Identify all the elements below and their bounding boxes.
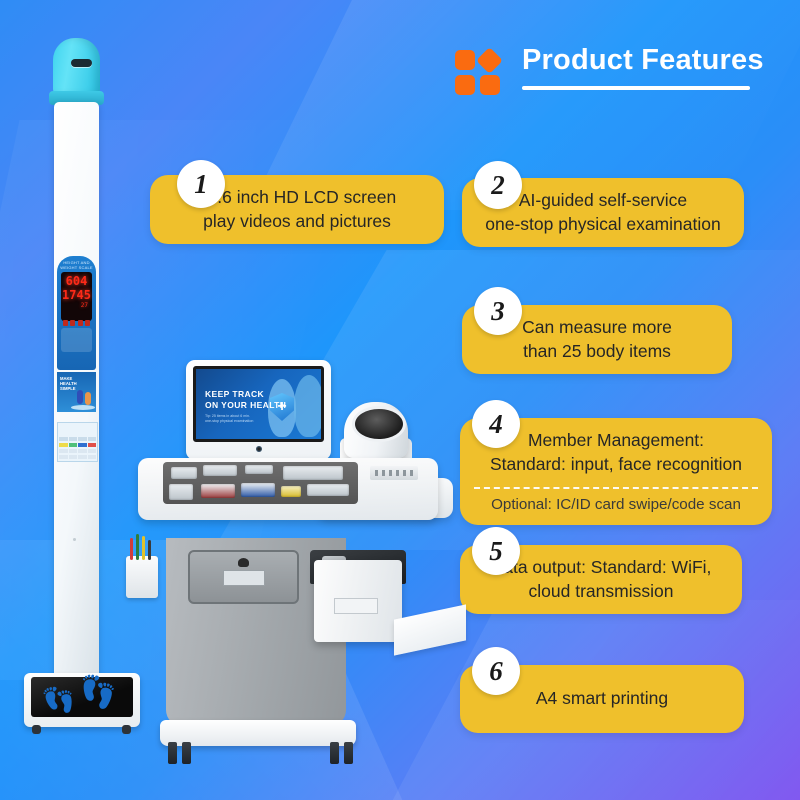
feature-number-badge: 4 — [472, 400, 520, 448]
tray-slot[interactable] — [281, 486, 301, 497]
feature-item-5: Data output: Standard: WiFi, cloud trans… — [460, 545, 742, 614]
feature-number: 4 — [489, 411, 503, 438]
header: Product Features — [455, 44, 775, 116]
ad-ground — [71, 405, 95, 410]
tray-slot[interactable] — [307, 484, 349, 496]
title-underline — [522, 86, 750, 90]
feature-number-badge: 5 — [472, 527, 520, 575]
feature-subtext: Optional: IC/ID card swipe/code scan — [460, 489, 772, 525]
printer-output-tray — [394, 604, 466, 655]
runner-figure — [77, 390, 83, 404]
scale-leg — [32, 725, 41, 734]
four-squares-icon — [455, 50, 503, 98]
column-indicator-dot — [73, 538, 76, 541]
health-kiosk-unit: KEEP TRACK ON YOUR HEALTH Tip: 25 items … — [118, 360, 458, 780]
tray-slot[interactable] — [169, 484, 193, 500]
feature-item-1: 15.6 inch HD LCD screen play videos and … — [150, 175, 444, 244]
feature-number: 5 — [489, 538, 503, 565]
camera-icon — [256, 446, 262, 452]
column-control-panel: HEIGHT AND WEIGHT SCALE 604 1745 27 — [57, 256, 96, 370]
kiosk-deck — [138, 458, 438, 520]
ecg-cable — [136, 534, 139, 560]
ecg-cable — [142, 536, 145, 560]
led-bmi-value: 27 — [61, 302, 92, 309]
kiosk-screen[interactable]: KEEP TRACK ON YOUR HEALTH Tip: 25 items … — [193, 366, 324, 442]
ecg-cable — [130, 538, 133, 560]
feature-number: 6 — [489, 658, 503, 685]
avatar — [294, 375, 324, 437]
runner-figure — [85, 392, 91, 405]
tray-slot[interactable] — [203, 465, 237, 476]
feature-item-6: A4 smart printing 6 — [460, 665, 744, 733]
instrument-tray — [163, 462, 358, 504]
tray-slot[interactable] — [241, 483, 275, 497]
body-access-panel[interactable] — [188, 550, 299, 604]
height-measuring-column: HEIGHT AND WEIGHT SCALE 604 1745 27 MAKE… — [44, 38, 108, 678]
column-ad-panel: MAKE HEALTH SIMPLE — [57, 372, 96, 412]
feature-number-badge: 3 — [474, 287, 522, 335]
ultrasonic-sensor-icon — [53, 38, 100, 95]
feature-number-badge: 1 — [177, 160, 225, 208]
panel-knob[interactable] — [238, 558, 249, 567]
column-ad-text: MAKE HEALTH SIMPLE — [57, 372, 96, 391]
page-title: Product Features — [522, 44, 764, 77]
footprints-icon: 👣 — [78, 678, 118, 708]
infographic-canvas: Product Features 15.6 inch HD LCD screen… — [0, 0, 800, 800]
ecg-cable-basket-icon — [126, 556, 158, 598]
feature-number-badge: 2 — [474, 161, 522, 209]
tray-slot[interactable] — [171, 467, 197, 479]
cuff-arm-opening — [352, 406, 406, 442]
caster-wheel — [344, 742, 353, 764]
feature-number: 2 — [491, 172, 505, 199]
printer-label — [334, 598, 378, 614]
tray-slot[interactable] — [283, 466, 343, 480]
feature-item-3: Can measure more than 25 body items 3 — [462, 305, 732, 374]
caster-wheel — [330, 742, 339, 764]
led-weight-value: 1745 — [61, 288, 92, 302]
ecg-cable — [148, 540, 151, 560]
feature-item-4: Member Management: Standard: input, face… — [460, 418, 772, 525]
screen-headline: KEEP TRACK ON YOUR HEALTH — [205, 389, 286, 411]
feature-divider — [474, 487, 758, 489]
led-display: 604 1745 27 — [61, 272, 92, 321]
panel-label — [223, 570, 265, 586]
feature-number: 3 — [491, 298, 505, 325]
column-info-plate — [61, 328, 92, 352]
kiosk-monitor: KEEP TRACK ON YOUR HEALTH Tip: 25 items … — [186, 360, 331, 460]
column-brand-label: HEIGHT AND WEIGHT SCALE — [57, 260, 96, 270]
tray-slot[interactable] — [245, 465, 273, 474]
card-reader-plate[interactable] — [370, 466, 418, 480]
feature-item-2: AI-guided self-service one-stop physical… — [462, 178, 744, 247]
screen-subtext: Tip: 25 items in about 6 min. one-stop p… — [205, 414, 269, 424]
caster-wheel — [168, 742, 177, 764]
column-keypad[interactable] — [63, 320, 90, 326]
footprints-icon: 👣 — [41, 684, 78, 716]
led-height-value: 604 — [61, 274, 92, 288]
tray-slot[interactable] — [201, 484, 235, 498]
feature-number: 1 — [194, 171, 208, 198]
sensor-lens — [71, 59, 92, 67]
column-spec-poster — [57, 422, 98, 462]
caster-wheel — [182, 742, 191, 764]
feature-number-badge: 6 — [472, 647, 520, 695]
